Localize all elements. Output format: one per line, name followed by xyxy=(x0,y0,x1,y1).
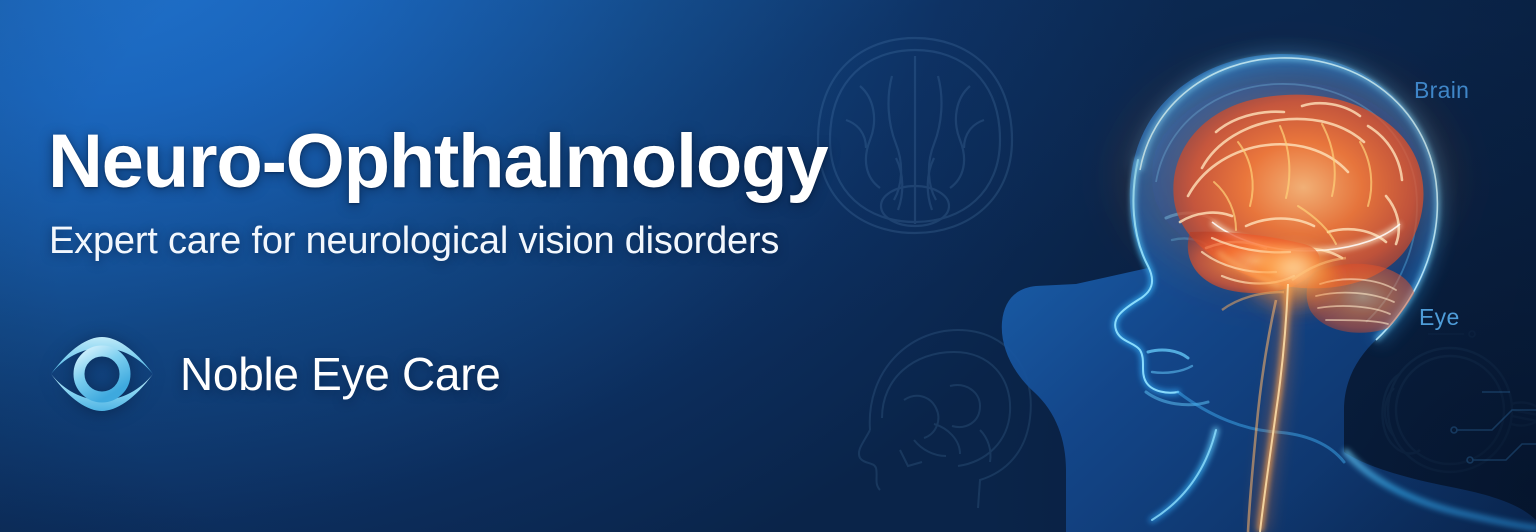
brand-logo-lockup[interactable]: Noble Eye Care xyxy=(48,334,501,414)
neuro-ophthalmology-banner: Neuro-Ophthalmology Expert care for neur… xyxy=(0,0,1536,532)
label-eye: Eye xyxy=(1419,303,1460,331)
banner-text-block: Neuro-Ophthalmology Expert care for neur… xyxy=(48,120,948,264)
page-subtitle: Expert care for neurological vision diso… xyxy=(49,218,948,264)
brand-name: Noble Eye Care xyxy=(180,348,501,400)
background-vignette xyxy=(0,0,1536,532)
label-brain: Brain xyxy=(1414,76,1469,104)
eye-icon xyxy=(48,334,156,414)
page-title: Neuro-Ophthalmology xyxy=(48,120,948,204)
